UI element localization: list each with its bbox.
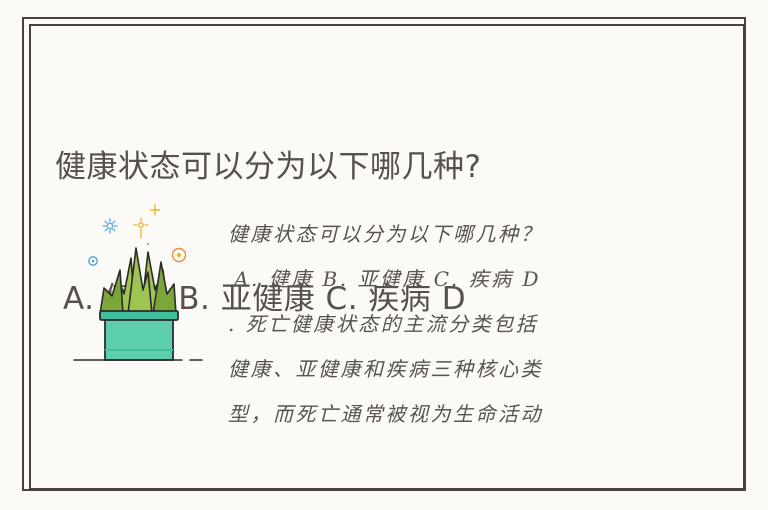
plant-leaves — [100, 248, 176, 314]
sparkle-yellow-cross-icon — [151, 205, 160, 215]
answer-line-2: A. 健康 B. 亚健康 C. 疾病 D — [228, 257, 658, 302]
sparkle-orange-flower-icon — [173, 249, 186, 262]
answer-line-5: 型，而死亡通常被视为生命活动 — [228, 392, 658, 437]
sparkle-dot-icon — [147, 243, 149, 245]
document-page: 健康状态可以分为以下哪几种? A. 健康 B. 亚健康 C. 疾病 D — [0, 0, 768, 510]
potted-plant-illustration — [62, 198, 212, 370]
sparkle-blue-flower-icon — [103, 219, 117, 233]
handwritten-answer-text: 健康状态可以分为以下哪几种？ A. 健康 B. 亚健康 C. 疾病 D . 死亡… — [228, 212, 658, 437]
answer-line-1: 健康状态可以分为以下哪几种？ — [228, 212, 658, 257]
page-title-line-1: 健康状态可以分为以下哪几种? — [55, 145, 695, 189]
answer-line-4: 健康、亚健康和疾病三种核心类 — [228, 347, 658, 392]
answer-line-3: . 死亡健康状态的主流分类包括 — [228, 302, 658, 347]
plant-pot — [100, 311, 178, 360]
sparkle-blue-small-icon — [89, 257, 97, 265]
sparkle-yellow-icon — [134, 218, 148, 238]
